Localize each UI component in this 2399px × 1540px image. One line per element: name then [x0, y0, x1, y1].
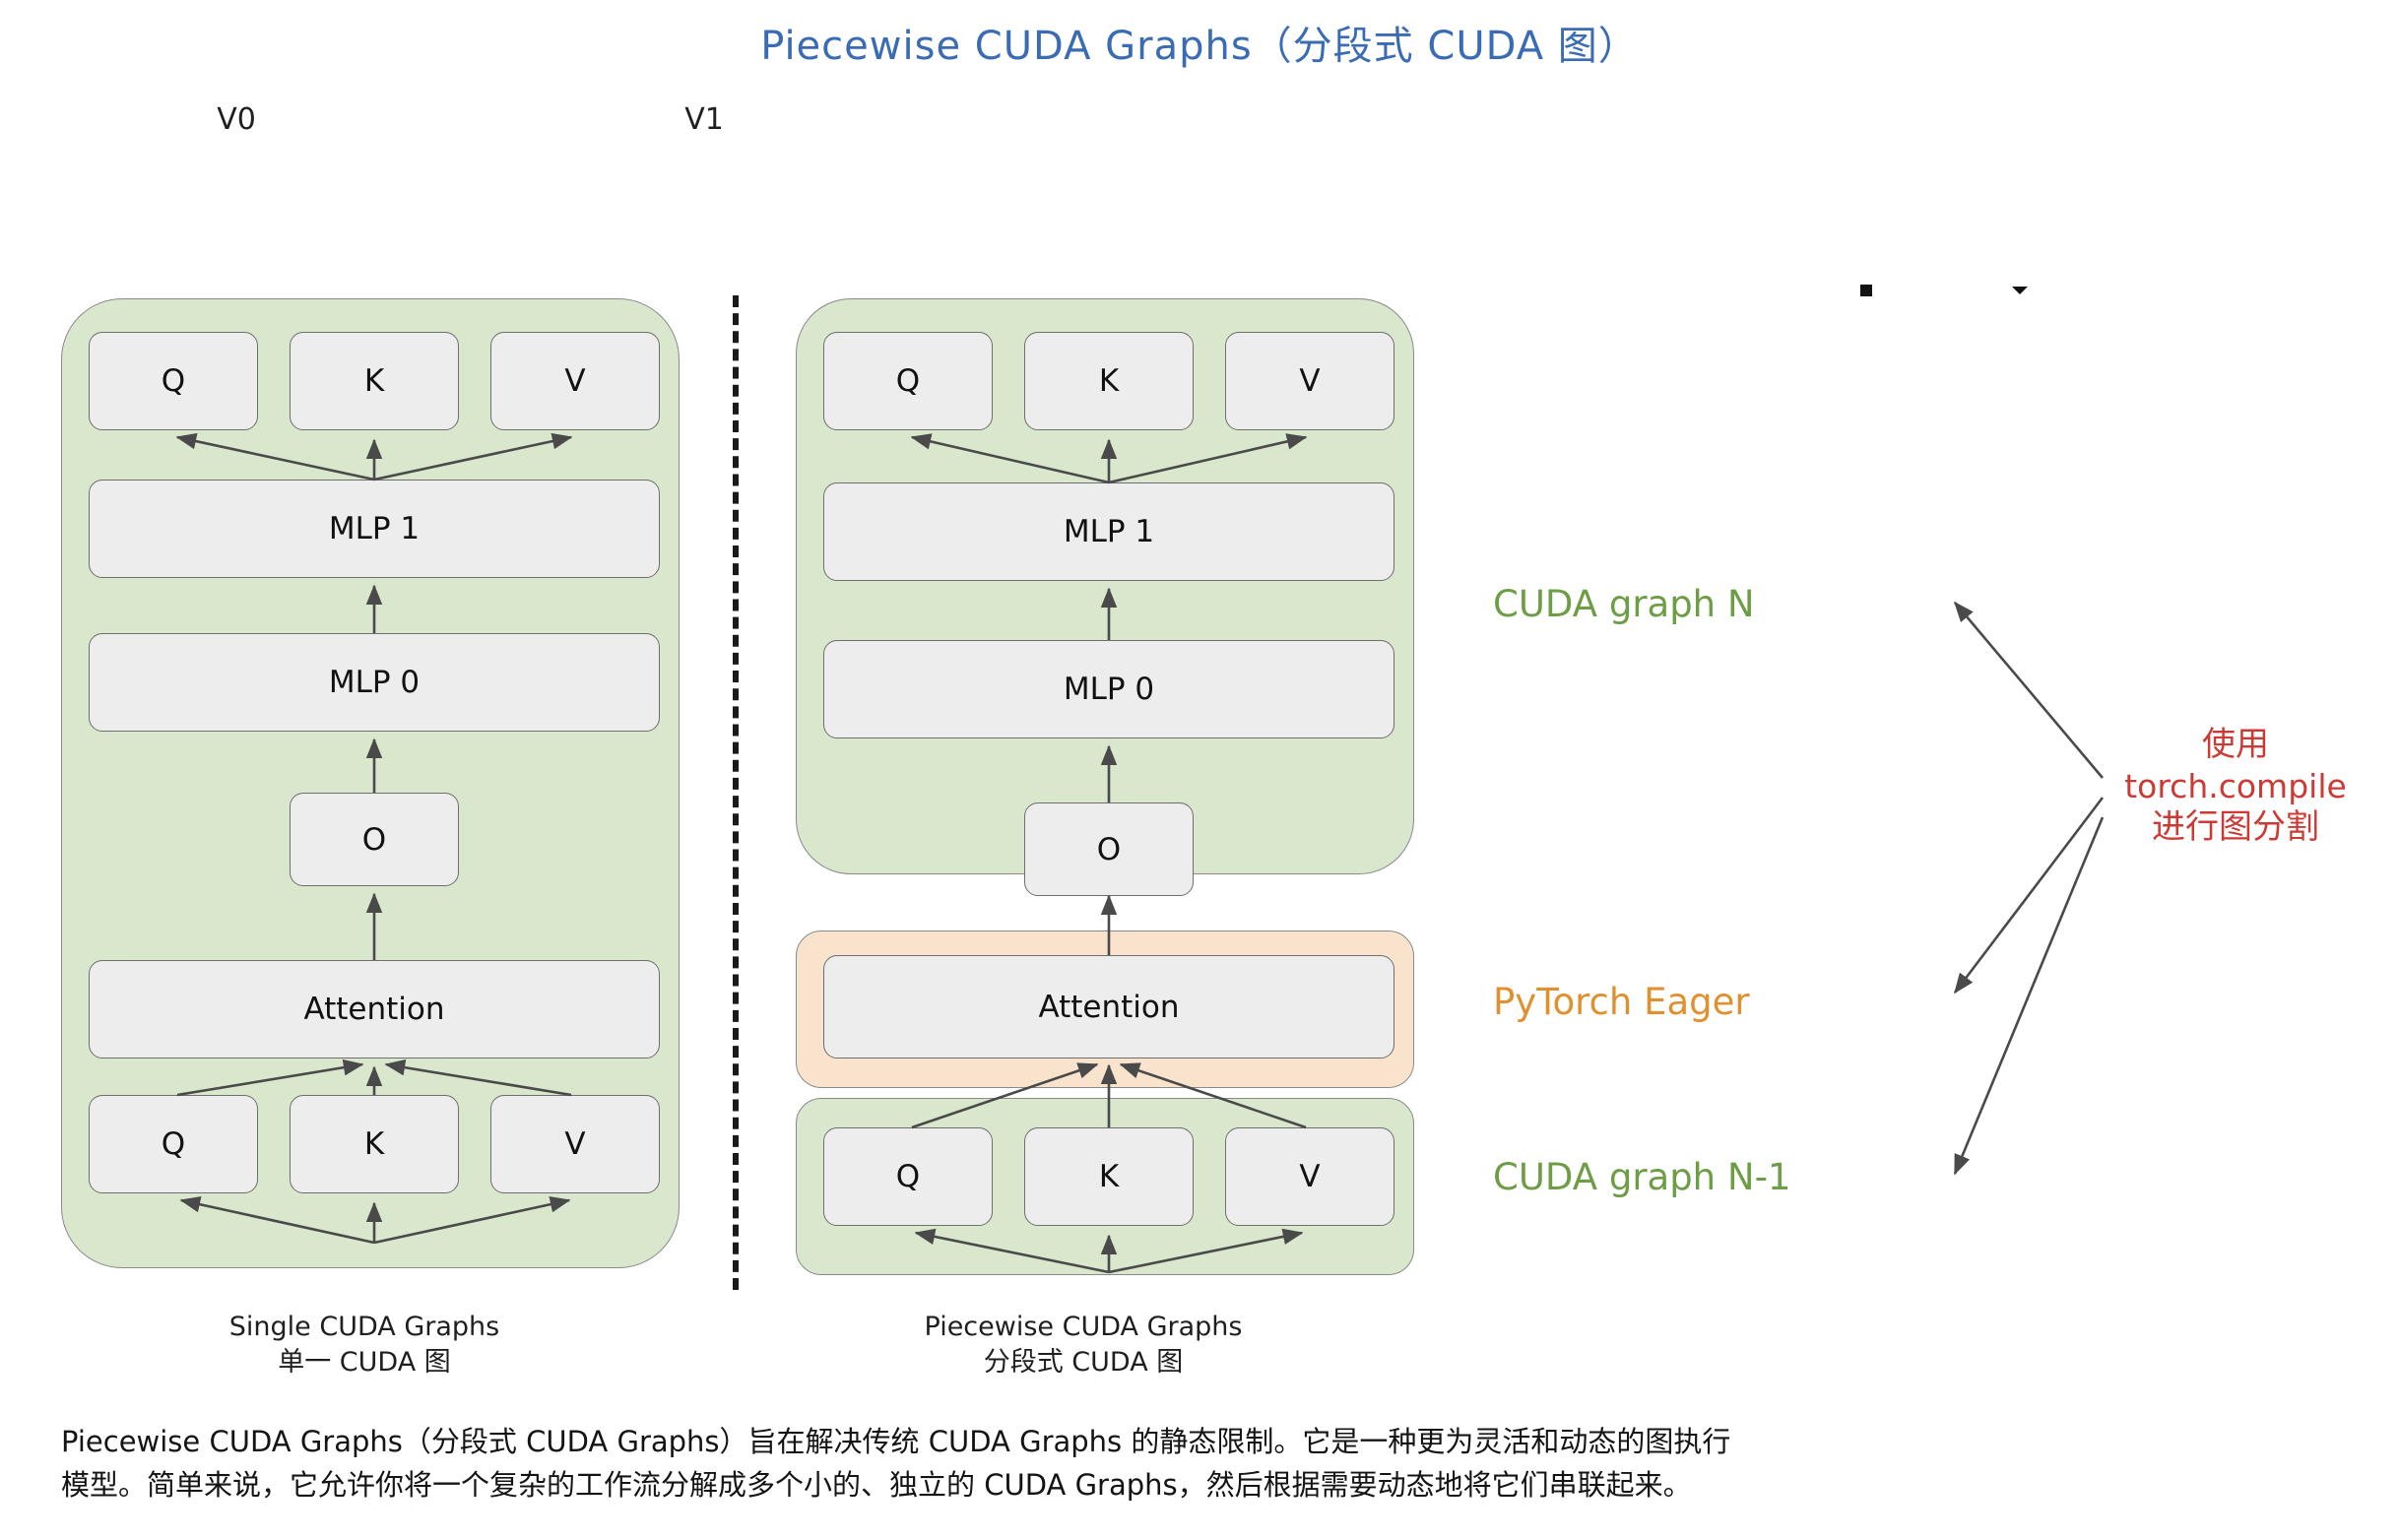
page-title: Piecewise CUDA Graphs（分段式 CUDA 图） — [0, 14, 2399, 71]
v0-caption-zh: 单一 CUDA 图 — [59, 1345, 670, 1380]
description-paragraph: Piecewise CUDA Graphs（分段式 CUDA Graphs）旨在… — [61, 1421, 2346, 1507]
v0-node-v-bottom[interactable]: V — [490, 1095, 660, 1193]
annotation-line-1: 使用 — [2093, 724, 2378, 766]
description-line-1: Piecewise CUDA Graphs（分段式 CUDA Graphs）旨在… — [61, 1421, 2346, 1464]
v1-node-v-bottom[interactable]: V — [1225, 1127, 1394, 1226]
v0-caption-en: Single CUDA Graphs — [59, 1310, 670, 1345]
column-heading-v1: V1 — [606, 102, 803, 137]
v0-node-o[interactable]: O — [290, 793, 459, 886]
legend-cuda-graph-n-minus-1: CUDA graph N-1 — [1493, 1156, 1790, 1198]
annotation-line-3: 进行图分割 — [2093, 806, 2378, 849]
triangle-marker-icon — [2012, 287, 2028, 294]
column-heading-v0: V0 — [138, 102, 335, 137]
v1-node-q-top[interactable]: Q — [823, 332, 993, 430]
v0-node-attention[interactable]: Attention — [89, 960, 660, 1059]
v1-node-k-bottom[interactable]: K — [1024, 1127, 1194, 1226]
v0-node-q-top[interactable]: Q — [89, 332, 258, 430]
v0-node-v-top[interactable]: V — [490, 332, 660, 430]
v1-caption: Piecewise CUDA Graphs 分段式 CUDA 图 — [778, 1310, 1389, 1381]
v1-node-mlp0[interactable]: MLP 0 — [823, 640, 1394, 738]
v1-node-k-top[interactable]: K — [1024, 332, 1194, 430]
v0-node-k-top[interactable]: K — [290, 332, 459, 430]
v1-caption-zh: 分段式 CUDA 图 — [778, 1345, 1389, 1380]
v0-node-k-bottom[interactable]: K — [290, 1095, 459, 1193]
column-divider — [733, 295, 739, 1290]
v1-node-attention[interactable]: Attention — [823, 955, 1394, 1059]
torch-compile-annotation: 使用 torch.compile 进行图分割 — [2093, 724, 2378, 849]
legend-pytorch-eager: PyTorch Eager — [1493, 981, 1750, 1023]
square-marker-icon — [1860, 285, 1872, 296]
v0-node-q-bottom[interactable]: Q — [89, 1095, 258, 1193]
description-line-2: 模型。简单来说，它允许你将一个复杂的工作流分解成多个小的、独立的 CUDA Gr… — [61, 1464, 2346, 1508]
v1-node-q-bottom[interactable]: Q — [823, 1127, 993, 1226]
v0-node-mlp0[interactable]: MLP 0 — [89, 633, 660, 732]
annotation-line-2: torch.compile — [2093, 766, 2378, 807]
legend-cuda-graph-n: CUDA graph N — [1493, 583, 1755, 625]
v1-node-v-top[interactable]: V — [1225, 332, 1394, 430]
v0-node-mlp1[interactable]: MLP 1 — [89, 480, 660, 578]
v1-caption-en: Piecewise CUDA Graphs — [778, 1310, 1389, 1345]
v0-caption: Single CUDA Graphs 单一 CUDA 图 — [59, 1310, 670, 1381]
v1-node-mlp1[interactable]: MLP 1 — [823, 482, 1394, 581]
v1-node-o[interactable]: O — [1024, 802, 1194, 896]
